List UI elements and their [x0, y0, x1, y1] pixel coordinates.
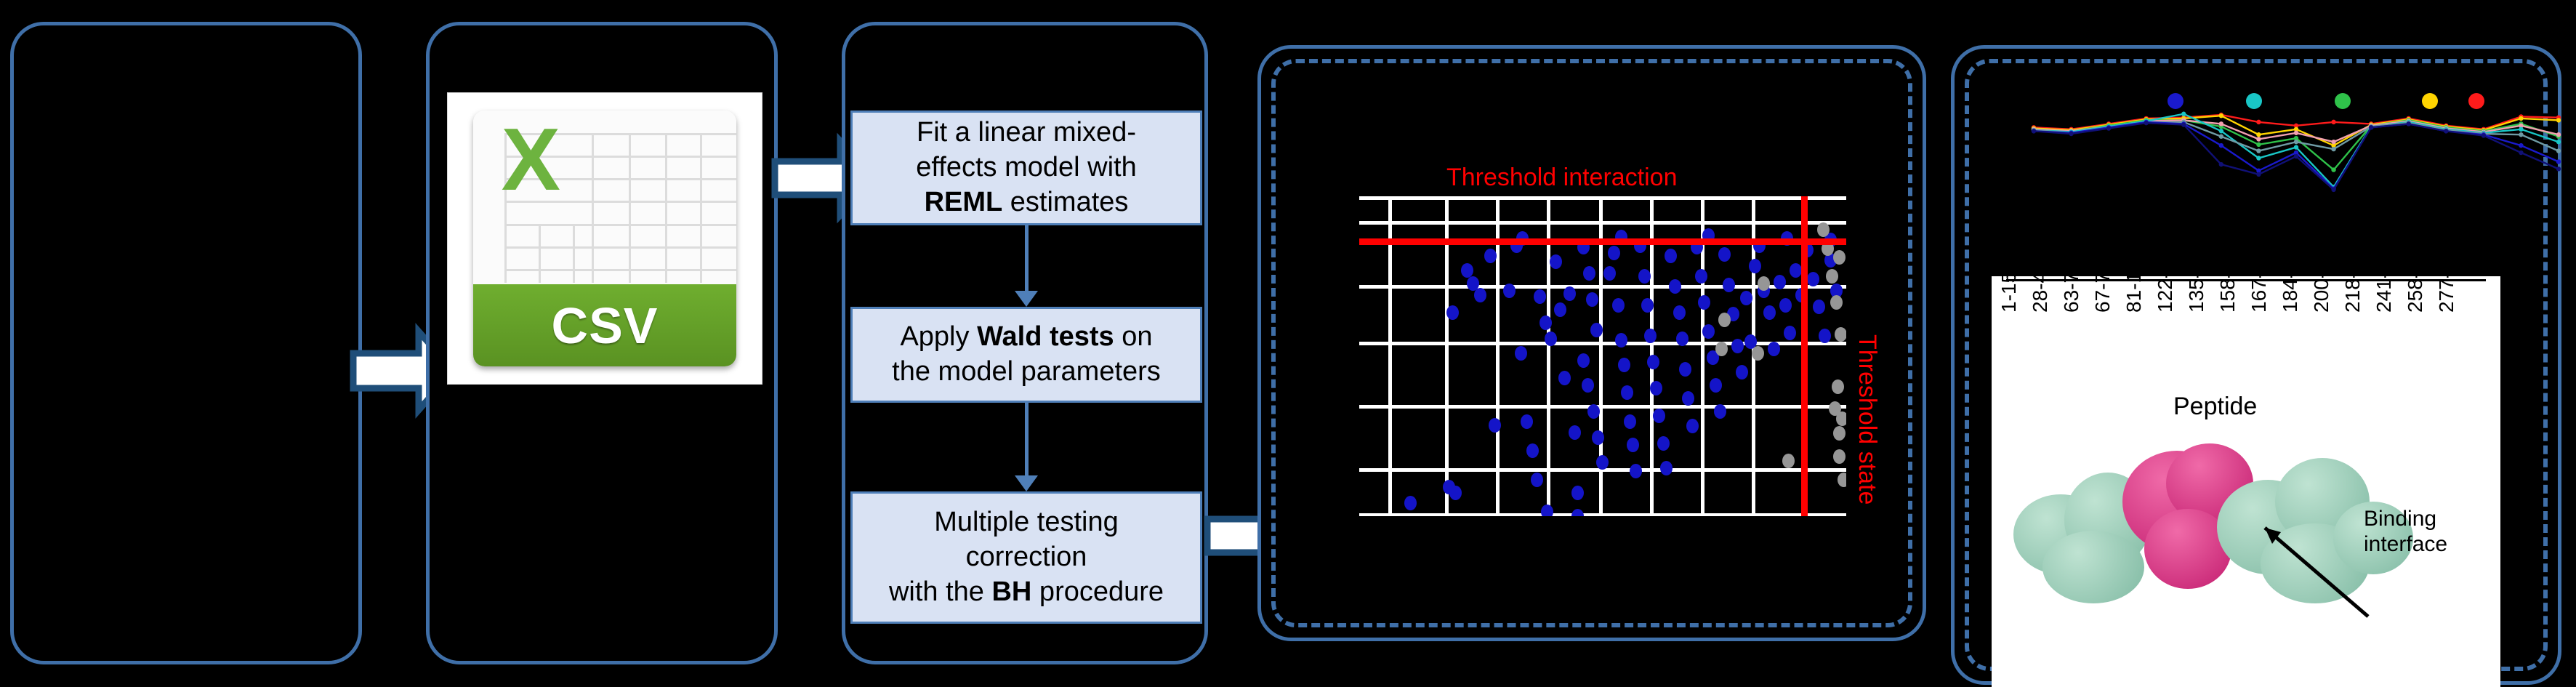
chart-data-point — [2106, 126, 2111, 130]
connector-2-arrowhead — [1015, 475, 1038, 491]
chart-data-point — [2369, 125, 2373, 129]
chart-data-point — [2331, 120, 2335, 124]
chart-data-point — [2294, 145, 2298, 149]
peptide-tick-label: 184-199 — [2279, 276, 2302, 313]
peptide-tick-label: 200-214 — [2310, 276, 2333, 313]
step-fit-model-text: Fit a linear mixed- effects model with R… — [916, 116, 1136, 220]
chart-data-point — [2219, 129, 2223, 133]
chart-data-point — [2256, 156, 2261, 160]
peptide-tick-label: 241-257 — [2372, 276, 2396, 313]
diagram-canvas: X CSV Fit a linear mixed- effects model … — [0, 0, 2576, 687]
legend-dot-3 — [2335, 93, 2351, 109]
chart-data-point — [2331, 167, 2335, 172]
chart-data-point — [2519, 143, 2523, 148]
chart-data-point — [2256, 132, 2261, 137]
input-data-panel[interactable] — [10, 22, 362, 664]
chart-data-point — [2219, 162, 2223, 166]
connector-2 — [1025, 403, 1029, 483]
chart-data-point — [2032, 129, 2036, 133]
chart-data-point — [2556, 159, 2561, 164]
chart-data-point — [2256, 148, 2261, 153]
excel-x-glyph: X — [483, 114, 579, 204]
chart-data-point — [2294, 154, 2298, 158]
peptide-tick-label: 167-180 — [2247, 276, 2271, 313]
peptide-tick-label: 67-75 — [2091, 276, 2114, 313]
chart-data-point — [2556, 118, 2561, 122]
legend-dot-4 — [2422, 93, 2438, 109]
chart-data-point — [2331, 188, 2335, 192]
chart-data-point — [2556, 140, 2561, 144]
peptide-tick-label: 1-15 — [1997, 276, 2021, 313]
peptide-line-chart[interactable] — [2013, 109, 2566, 204]
legend-dot-1 — [2168, 93, 2183, 109]
csv-icon-grid: X — [473, 111, 737, 284]
peptide-tick-label: 218-237 — [2341, 276, 2364, 313]
step-multiple-testing-text: Multiple testing correction with the BH … — [889, 505, 1164, 610]
csv-file-icon: X CSV — [448, 93, 762, 384]
chart-data-point — [2294, 131, 2298, 135]
csv-band-label: CSV — [552, 297, 659, 355]
chart-data-point — [2256, 142, 2261, 147]
peptide-tick-label: 135-144 — [2185, 276, 2208, 313]
connector-1 — [1025, 225, 1029, 298]
chart-data-point — [2519, 127, 2523, 132]
chart-data-point — [2519, 132, 2523, 137]
threshold-state-line — [1801, 196, 1808, 516]
threshold-interaction-label: Threshold interaction — [1446, 164, 1678, 192]
chart-data-point — [2331, 147, 2335, 151]
chart-data-point — [2219, 113, 2223, 118]
chart-data-point — [2556, 132, 2561, 137]
x-axis-title: Peptide — [2173, 393, 2257, 421]
legend-dot-5 — [2468, 93, 2484, 109]
binding-interface-annotation: Binding interface — [2364, 506, 2447, 558]
chart-data-point — [2556, 148, 2561, 153]
chart-data-point — [2181, 112, 2186, 116]
chart-data-point — [2482, 133, 2486, 137]
peptide-tick-label: 28-44 — [2029, 276, 2052, 313]
chart-data-point — [2256, 172, 2261, 177]
peptide-tick-label: 81-101 — [2122, 276, 2146, 313]
peptide-figure-card: 0.0 1-1528-4463-7367-7581-101122-129135-… — [1992, 276, 2500, 687]
peptide-tick-label: 158-166 — [2216, 276, 2239, 313]
peptide-tick-label: 258-266 — [2404, 276, 2427, 313]
chart-data-point — [2219, 134, 2223, 139]
chart-data-point — [2556, 166, 2561, 171]
threshold-state-label: Threshold state — [1853, 334, 1881, 505]
peptide-tick-label: 277-284 — [2435, 276, 2458, 313]
chart-data-point — [2444, 129, 2448, 133]
peptide-tick-label: 122-129 — [2154, 276, 2177, 313]
chart-data-point — [2069, 132, 2073, 136]
step-multiple-testing[interactable]: Multiple testing correction with the BH … — [850, 491, 1202, 624]
csv-icon-card: X CSV — [473, 111, 737, 366]
step-wald-tests[interactable]: Apply Wald tests on the model parameters — [850, 307, 1202, 403]
chart-data-point — [2256, 120, 2261, 124]
chart-data-point — [2256, 137, 2261, 141]
chart-data-point — [2219, 143, 2223, 148]
chart-data-point — [2219, 121, 2223, 126]
chart-data-point — [2294, 140, 2298, 144]
step-fit-model[interactable]: Fit a linear mixed- effects model with R… — [850, 111, 1202, 225]
step-wald-tests-text: Apply Wald tests on the model parameters — [892, 320, 1161, 390]
legend-dot-2 — [2246, 93, 2262, 109]
chart-data-point — [2519, 150, 2523, 155]
csv-band: CSV — [473, 284, 737, 366]
threshold-interaction-line — [1359, 238, 1846, 245]
chart-data-point — [2331, 140, 2335, 144]
chart-data-point — [2519, 116, 2523, 121]
peptide-tick-label: 63-73 — [2060, 276, 2083, 313]
chart-data-point — [2181, 122, 2186, 126]
chart-data-point — [2144, 121, 2149, 125]
chart-data-point — [2407, 121, 2411, 126]
connector-1-arrowhead — [1015, 291, 1038, 307]
volcano-scatter-plot[interactable] — [1359, 196, 1846, 516]
